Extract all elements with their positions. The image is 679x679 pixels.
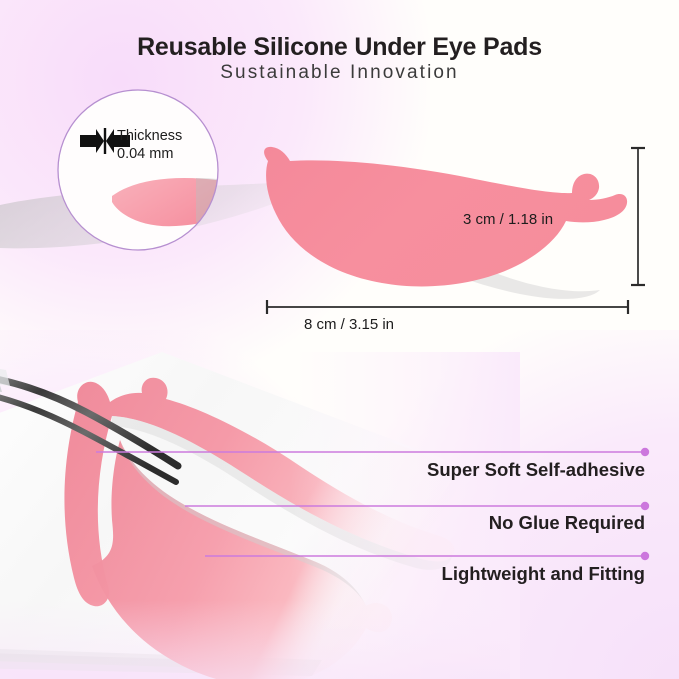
hero-silicone-pad	[264, 147, 627, 287]
product-infographic: Reusable Silicone Under Eye Pads Sustain…	[0, 0, 679, 679]
feature-label-2: No Glue Required	[489, 512, 645, 534]
height-dimension-label: 3 cm / 1.18 in	[463, 211, 553, 228]
width-dimension-text: 8 cm / 3.15 in	[285, 316, 394, 333]
page-title: Reusable Silicone Under Eye Pads	[0, 33, 679, 62]
width-dimension-label: 8 cm / 3.15 in	[0, 316, 679, 333]
magnifier-detail	[58, 90, 300, 250]
feature-label-1: Super Soft Self-adhesive	[427, 459, 645, 481]
feature-label-3: Lightweight and Fitting	[442, 563, 645, 585]
thickness-callout-label: Thickness 0.04 mm	[117, 128, 182, 164]
page-subtitle: Sustainable Innovation	[0, 62, 679, 84]
